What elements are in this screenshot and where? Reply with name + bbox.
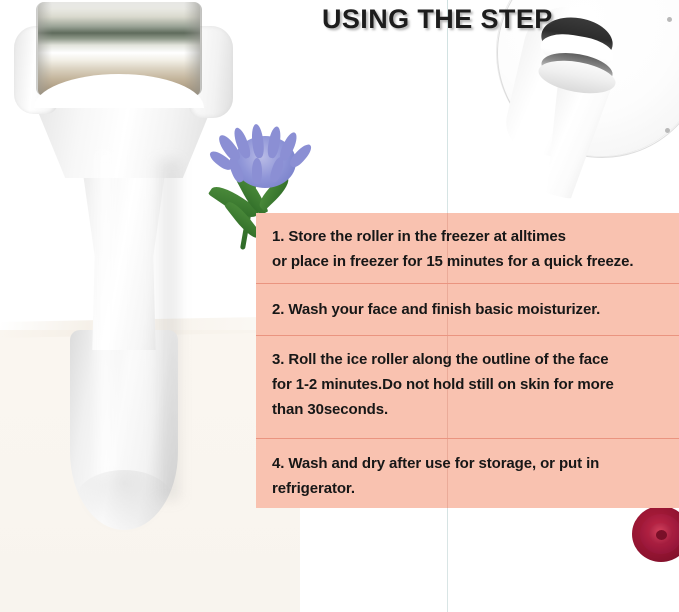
step-item-1: 1. Store the roller in the freezer at al…: [256, 213, 679, 283]
step-line: 2. Wash your face and finish basic moist…: [272, 297, 669, 322]
product-roller-cap-right: [184, 2, 202, 96]
product-roller-cap-left: [36, 2, 52, 96]
flower-petal: [252, 158, 262, 184]
step-line: or place in freezer for 15 minutes for a…: [272, 249, 669, 274]
product-tip-shadow: [74, 470, 174, 534]
guide-line-vertical-lower: [447, 508, 448, 612]
step-item-2: 2. Wash your face and finish basic moist…: [256, 283, 679, 335]
inset-ring-dot: [667, 17, 672, 22]
step-line: refrigerator.: [272, 476, 669, 501]
step-line: than 30seconds.: [272, 397, 669, 422]
inset-ring-dot: [665, 128, 670, 133]
steps-panel: 1. Store the roller in the freezer at al…: [256, 213, 679, 508]
step-line: 4. Wash and dry after use for storage, o…: [272, 451, 669, 476]
step-line: 1. Store the roller in the freezer at al…: [272, 224, 669, 249]
step-line: for 1-2 minutes.Do not hold still on ski…: [272, 372, 669, 397]
step-item-3: 3. Roll the ice roller along the outline…: [256, 335, 679, 438]
rose-center: [656, 530, 667, 540]
product-handle-highlight: [92, 150, 118, 480]
step-item-4: 4. Wash and dry after use for storage, o…: [256, 438, 679, 515]
infographic-canvas: USING THE STEP 1. Store the roller in th…: [0, 0, 679, 612]
step-line: 3. Roll the ice roller along the outline…: [272, 347, 669, 372]
product-handle-shadow: [152, 160, 180, 500]
page-title: USING THE STEP: [322, 4, 553, 35]
